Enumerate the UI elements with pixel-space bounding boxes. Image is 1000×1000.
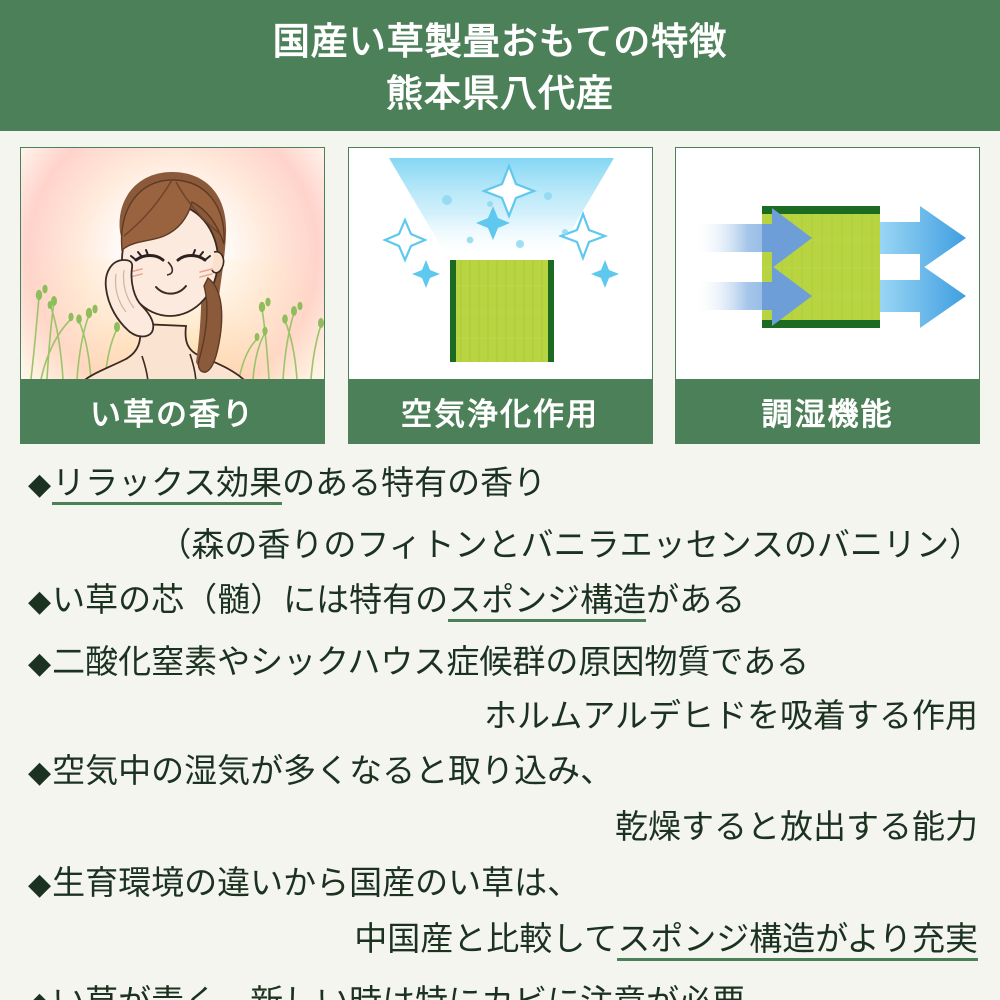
bullet-3-seg-3: がある (646, 583, 745, 616)
bullet-line-2: （森の香りのフィトンとバニラエッセンスのバニリン） (0, 528, 1000, 561)
feature-bullet-list: ◆リラックス効果のある特有の香り （森の香りのフィトンとバニラエッセンスのバニリ… (0, 466, 1000, 1000)
feature-card-air-purification: 空気浄化作用 (348, 147, 653, 444)
bullet-4-seg-1: 二酸化窒素やシックハウス症候群の原因物質である (52, 645, 809, 678)
bullet-2-seg-1: （森の香りのフィトンとバニラエッセンスのバニリン） (158, 528, 982, 561)
diamond-bullet-icon: ◆ (28, 989, 51, 1000)
air-purification-illustration (348, 147, 653, 379)
bullet-7-seg-1: 乾燥すると放出する能力 (615, 810, 978, 843)
feature-card-fragrance: い草の香り (20, 147, 325, 444)
diamond-bullet-icon: ◆ (28, 587, 51, 617)
diamond-bullet-icon: ◆ (28, 649, 51, 679)
bullet-9-seg-1: 中国産と比較して (354, 922, 617, 955)
bullet-1-seg-1: リラックス効果 (52, 466, 282, 505)
bullet-line-10: ◆い草が青く、新しい時は特にカビに注意が必要 (0, 985, 1000, 1000)
bullet-line-5: ホルムアルデヒドを吸着する作用 (0, 699, 1000, 732)
bullet-line-9: 中国産と比較してスポンジ構造がより充実 (0, 922, 1000, 961)
fragrance-illustration (20, 147, 325, 379)
bullet-line-1: ◆リラックス効果のある特有の香り (0, 466, 1000, 505)
bullet-line-3: ◆い草の芯（髄）には特有のスポンジ構造がある (0, 583, 1000, 622)
bullet-line-7: 乾燥すると放出する能力 (0, 810, 1000, 843)
tatami-sparkle-icon (349, 148, 653, 379)
feature-card-row: い草の香り (20, 147, 980, 444)
infographic-page: 国産い草製畳おもての特徴 熊本県八代産 (0, 0, 1000, 1000)
bullet-6-seg-1: 空気中の湿気が多くなると取り込み、 (52, 754, 613, 787)
bullet-1-seg-2: のある特有の香り (282, 466, 546, 499)
page-header: 国産い草製畳おもての特徴 熊本県八代産 (0, 0, 1000, 131)
bullet-10-seg-2: カビに注意 (481, 985, 646, 1000)
bullet-9-seg-2: スポンジ構造がより充実 (617, 922, 978, 961)
card-label-air-purification: 空気浄化作用 (348, 379, 653, 444)
bullet-line-6: ◆空気中の湿気が多くなると取り込み、 (0, 754, 1000, 788)
diamond-bullet-icon: ◆ (28, 470, 51, 500)
feature-card-humidity-control: 調湿機能 (675, 147, 980, 444)
bullet-line-4: ◆二酸化窒素やシックハウス症候群の原因物質である (0, 645, 1000, 679)
humidity-control-illustration (675, 147, 980, 379)
diamond-bullet-icon: ◆ (28, 870, 51, 900)
bullet-3-seg-2: スポンジ構造 (448, 583, 646, 622)
page-title-line-2: 熊本県八代産 (386, 68, 614, 119)
bullet-8-seg-1: 生育環境の違いから国産のい草は、 (52, 866, 580, 899)
bullet-5-seg-1: ホルムアルデヒドを吸着する作用 (484, 699, 978, 732)
bullet-10-seg-1: い草が青く、新しい時は特に (52, 985, 481, 1000)
relaxing-woman-icon (68, 156, 278, 379)
card-label-fragrance: い草の香り (20, 379, 325, 444)
bullet-10-seg-3: が必要 (646, 985, 745, 1000)
diamond-bullet-icon: ◆ (28, 758, 51, 788)
page-title-line-1: 国産い草製畳おもての特徴 (273, 16, 728, 67)
bullet-3-seg-1: い草の芯（髄）には特有の (52, 583, 448, 616)
tatami-airflow-icon (676, 148, 980, 379)
card-label-humidity-control: 調湿機能 (675, 379, 980, 444)
bullet-line-8: ◆生育環境の違いから国産のい草は、 (0, 866, 1000, 900)
